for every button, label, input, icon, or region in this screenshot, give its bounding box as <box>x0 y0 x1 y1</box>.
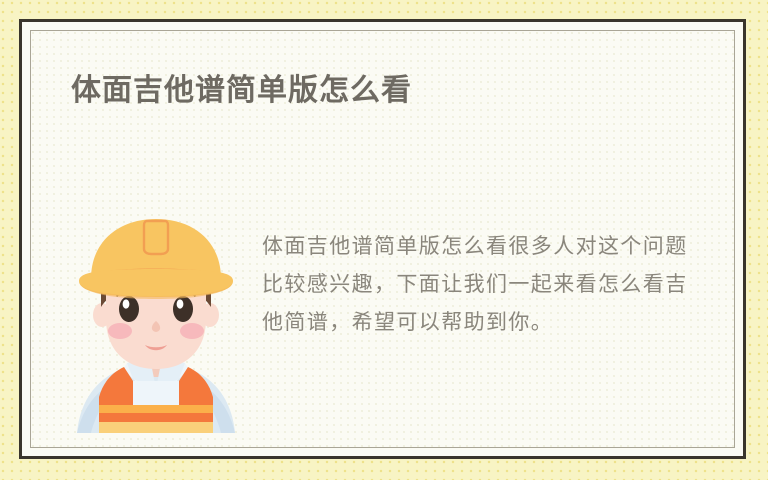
avatar-illustration-svg <box>71 211 241 433</box>
article-card-inner: 体面吉他谱简单版怎么看 <box>30 30 735 448</box>
article-body-text: 体面吉他谱简单版怎么看很多人对这个问题比较感兴趣，下面让我们一起来看怎么看吉他简… <box>262 228 707 342</box>
cheek-right <box>180 323 204 339</box>
article-content-row: 体面吉他谱简单版怎么看很多人对这个问题比较感兴趣，下面让我们一起来看怎么看吉他简… <box>31 181 734 441</box>
cheek-left <box>108 323 132 339</box>
eye-left <box>119 296 139 322</box>
eye-right <box>173 296 193 322</box>
construction-worker-avatar <box>71 211 241 433</box>
page-title: 体面吉他谱简单版怎么看 <box>71 71 412 111</box>
article-card-frame: 体面吉他谱简单版怎么看 <box>19 19 746 459</box>
hard-hat-group <box>79 219 233 299</box>
